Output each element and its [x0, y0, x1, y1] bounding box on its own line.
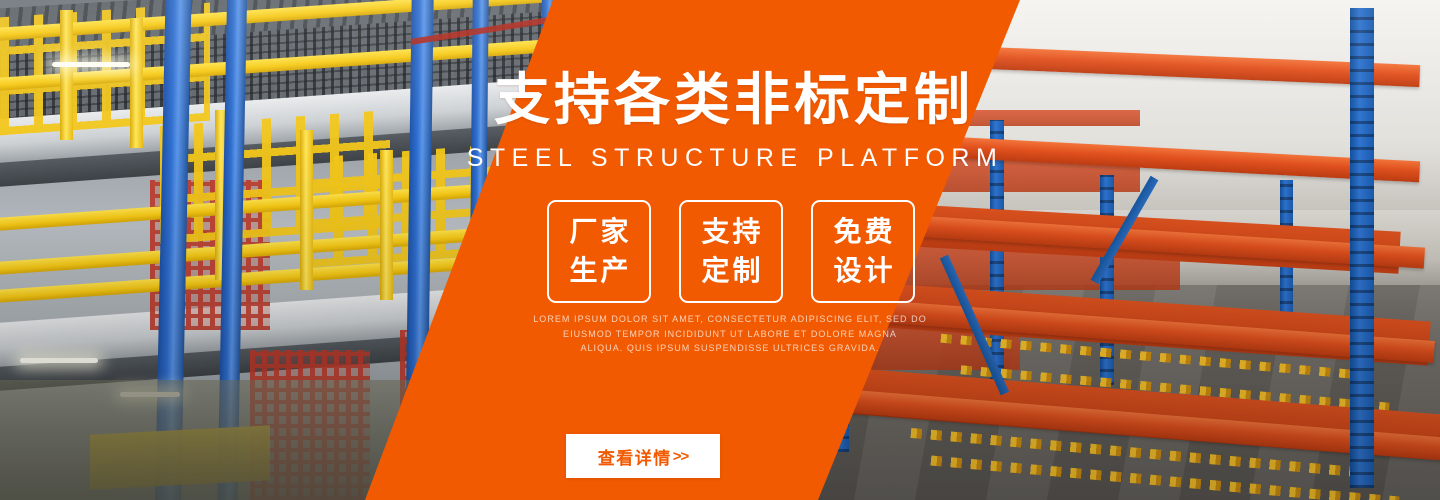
banner-description-line3: ALIQUA. QUIS IPSUM SUSPENDISSE ULTRICES …	[20, 341, 1440, 356]
feature-badge-customization-line1: 支持	[698, 213, 763, 252]
feature-badge-manufacturer-line2: 生产	[566, 252, 631, 291]
banner-content: 支持各类非标定制 STEEL STRUCTURE PLATFORM 厂家 生产 …	[0, 0, 1440, 500]
view-details-label: 查看详情	[598, 444, 672, 469]
promo-banner: 支持各类非标定制 STEEL STRUCTURE PLATFORM 厂家 生产 …	[0, 0, 1440, 500]
feature-badge-customization-line2: 定制	[698, 252, 763, 291]
feature-badge-manufacturer-line1: 厂家	[566, 213, 631, 252]
banner-description-line2: EIUSMOD TEMPOR INCIDIDUNT UT LABORE ET D…	[20, 327, 1440, 342]
banner-title-en: STEEL STRUCTURE PLATFORM	[0, 144, 1440, 173]
banner-title-cn: 支持各类非标定制	[0, 72, 1440, 128]
feature-badge-free-design-line2: 设计	[830, 252, 895, 291]
feature-badge-customization: 支持 定制	[679, 200, 783, 303]
feature-badge-row: 厂家 生产 支持 定制 免费 设计	[0, 200, 1440, 303]
banner-description: LOREM IPSUM DOLOR SIT AMET, CONSECTETUR …	[0, 312, 1440, 356]
view-details-button[interactable]: 查看详情 >>	[566, 434, 720, 478]
chevron-right-double-icon: >>	[673, 448, 689, 465]
banner-description-line1: LOREM IPSUM DOLOR SIT AMET, CONSECTETUR …	[20, 312, 1440, 327]
feature-badge-free-design-line1: 免费	[830, 213, 895, 252]
feature-badge-free-design: 免费 设计	[811, 200, 915, 303]
feature-badge-manufacturer: 厂家 生产	[547, 200, 651, 303]
